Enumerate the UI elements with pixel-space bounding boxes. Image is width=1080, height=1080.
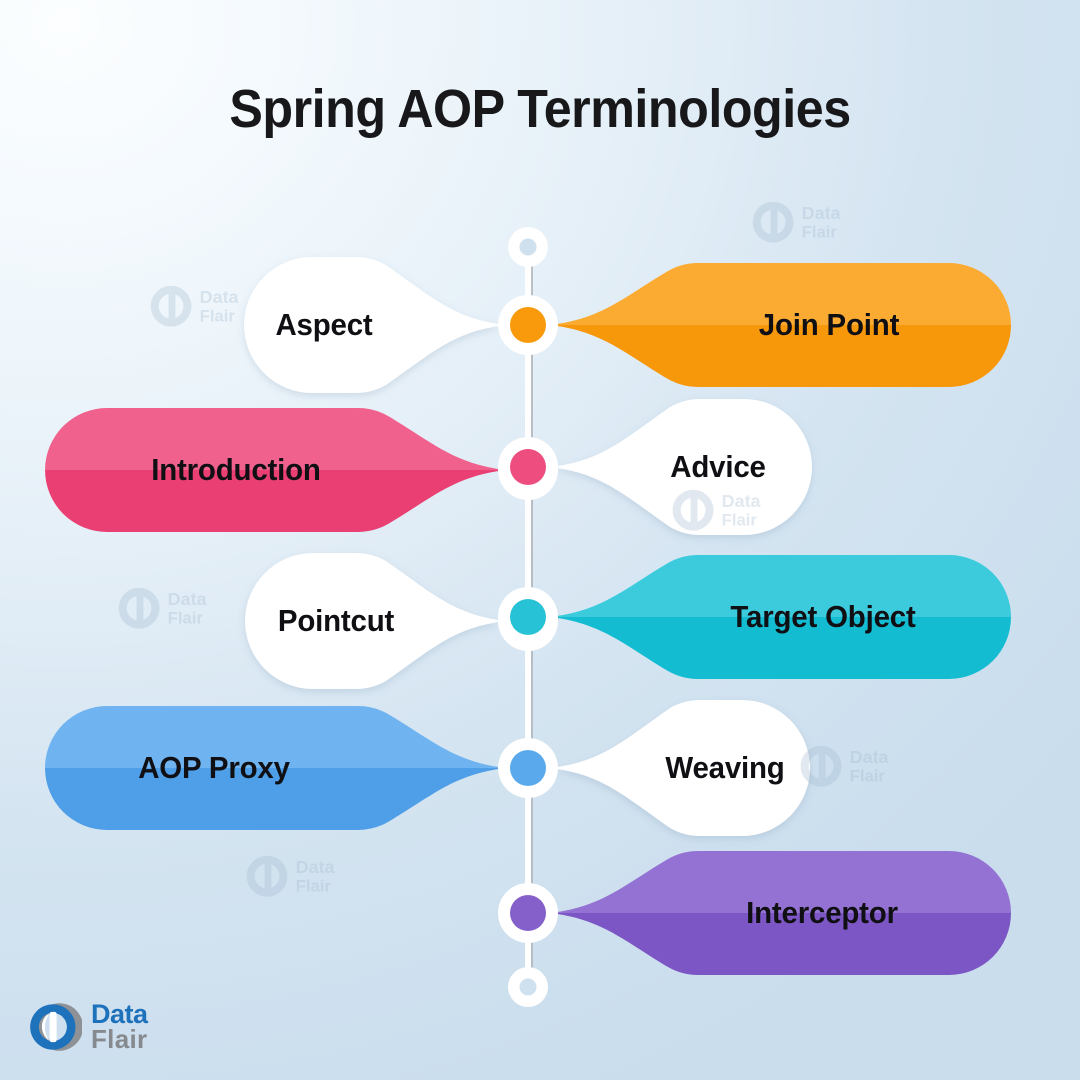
callout-aop-proxy[interactable]: [45, 706, 506, 830]
callout-aspect[interactable]: [244, 257, 506, 393]
top-terminal-ring: [508, 227, 548, 267]
node-dot-target-object[interactable]: [510, 599, 546, 635]
dataflair-logo: Data Flair: [28, 1000, 148, 1054]
timeline-node[interactable]: [498, 295, 558, 355]
dataflair-wordmark: Data Flair: [91, 1002, 148, 1053]
callout-interceptor[interactable]: [550, 851, 1011, 975]
timeline-node[interactable]: [498, 883, 558, 943]
callout-target-object[interactable]: [550, 555, 1011, 679]
timeline-node[interactable]: [498, 437, 558, 497]
brand-flair-text: Flair: [91, 1027, 148, 1052]
node-dot-advice[interactable]: [510, 449, 546, 485]
callout-introduction[interactable]: [45, 408, 506, 532]
dataflair-mark-icon: [28, 1000, 82, 1054]
aop-terminology-diagram: [0, 0, 1080, 1080]
bottom-terminal-ring: [508, 967, 548, 1007]
timeline-node[interactable]: [498, 738, 558, 798]
callout-weaving[interactable]: [550, 700, 810, 836]
infographic-canvas: Spring AOP Terminologies Data Flair: [0, 0, 1080, 1080]
node-dot-aspect[interactable]: [510, 307, 546, 343]
timeline-node[interactable]: [498, 587, 558, 647]
node-dot-interceptor[interactable]: [510, 895, 546, 931]
node-dot-aop-proxy[interactable]: [510, 750, 546, 786]
callout-join-point[interactable]: [550, 263, 1011, 387]
callout-advice[interactable]: [550, 399, 812, 535]
callout-pointcut[interactable]: [245, 553, 506, 689]
